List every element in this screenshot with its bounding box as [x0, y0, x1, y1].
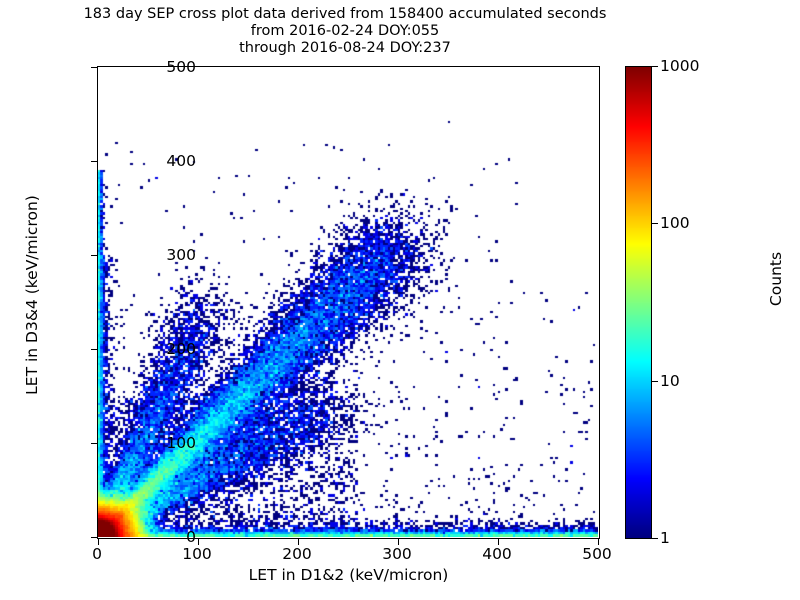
- x-ticklabel-200: 200: [267, 545, 327, 563]
- y-tick-300: [91, 255, 98, 256]
- colorbar-label-1000: 1000: [660, 57, 699, 75]
- x-axis-label: LET in D1&2 (keV/micron): [97, 566, 600, 584]
- x-ticklabel-400: 400: [467, 545, 527, 563]
- title-line-2: from 2016-02-24 DOY:055: [0, 23, 690, 40]
- y-ticklabel-0: 0: [186, 528, 196, 546]
- plot-axes: [97, 66, 600, 539]
- x-tick-200: [298, 538, 299, 545]
- colorbar-label-1: 1: [660, 529, 670, 547]
- y-ticklabel-500: 500: [166, 58, 196, 76]
- figure-canvas: 183 day SEP cross plot data derived from…: [0, 0, 800, 600]
- colorbar-tick-1000: [652, 66, 658, 67]
- colorbar-title: Counts: [767, 159, 785, 399]
- x-tick-300: [398, 538, 399, 545]
- x-tick-0: [98, 538, 99, 545]
- plot-title: 183 day SEP cross plot data derived from…: [0, 6, 690, 57]
- y-axis-label: LET in D3&4 (keV/micron): [23, 95, 41, 495]
- x-ticklabel-500: 500: [567, 545, 627, 563]
- colorbar-tick-1: [652, 538, 658, 539]
- y-ticklabel-300: 300: [166, 246, 196, 264]
- colorbar: 1000 100 10 1: [625, 66, 652, 539]
- colorbar-label-10: 10: [660, 372, 680, 390]
- y-ticklabel-100: 100: [166, 434, 196, 452]
- y-tick-400: [91, 161, 98, 162]
- title-line-1: 183 day SEP cross plot data derived from…: [0, 6, 690, 23]
- x-ticklabel-100: 100: [167, 545, 227, 563]
- colorbar-label-100: 100: [660, 214, 690, 232]
- y-tick-100: [91, 443, 98, 444]
- colorbar-gradient: [625, 66, 652, 539]
- x-ticklabel-300: 300: [367, 545, 427, 563]
- colorbar-tick-100: [652, 223, 658, 224]
- y-tick-0: [91, 537, 98, 538]
- scatter-density-canvas: [98, 67, 598, 537]
- y-tick-200: [91, 349, 98, 350]
- x-tick-500: [598, 538, 599, 545]
- x-ticklabel-0: 0: [67, 545, 127, 563]
- x-tick-400: [498, 538, 499, 545]
- title-line-3: through 2016-08-24 DOY:237: [0, 40, 690, 57]
- y-ticklabel-200: 200: [166, 340, 196, 358]
- x-tick-100: [198, 538, 199, 545]
- colorbar-tick-10: [652, 381, 658, 382]
- y-ticklabel-400: 400: [166, 152, 196, 170]
- y-tick-500: [91, 67, 98, 68]
